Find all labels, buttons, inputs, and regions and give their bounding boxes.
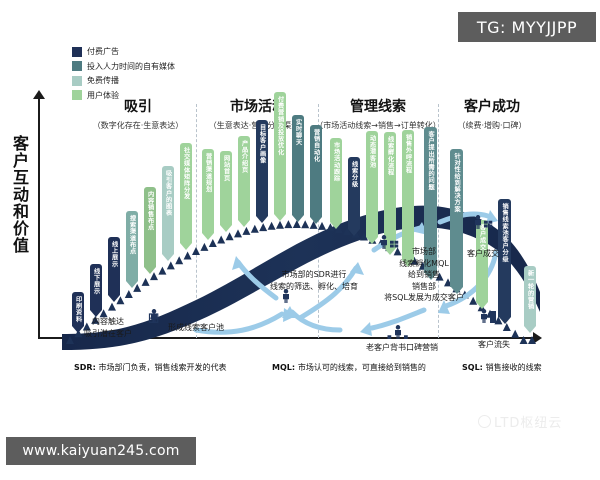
weibo-logo-icon [478,415,491,428]
y-axis-arrowhead [33,90,45,99]
activity-arrow: 产品介绍页 [238,136,250,220]
activity-arrow: 吸引客户的图表 [162,166,174,254]
activity-arrow: 目标客户画像 [256,120,268,216]
activity-arrow: 线索分级 [348,157,360,229]
legend-item: 付费广告 [72,46,175,57]
y-axis-label-char: 值 [8,238,34,255]
activity-arrow-label: 动态潜客池 [368,131,375,168]
activity-arrow: 销售外呼流程 [402,130,414,260]
annotation-line: 市场部的SDR进行 [254,269,374,281]
activity-arrow-label: 线索分级 [350,157,357,187]
annotation-line: 老客户背书口碑营销 [342,342,462,354]
arrow-tip-icon [330,222,342,229]
arrow-tip-icon [202,233,214,240]
activity-arrow: 市场活动跟踪 [330,138,342,222]
footnote: SDR: 市场部门负责，销售线索开发的代表 [74,362,227,373]
legend-item-label: 付费广告 [87,46,119,57]
legend-item: 用户体验 [72,90,175,101]
chart-legend: 付费广告投入人力时间的自有媒体免费传播用户体验 [72,46,175,104]
activity-arrow: 营销渠道规划 [202,149,214,233]
activity-arrow-label: 新一轮的营销 [526,266,533,310]
activity-arrow-label: 线上展示 [110,237,117,267]
y-axis-label: 客户互动和价值 [8,136,34,255]
footnote-key: SDR: [74,363,99,372]
note-deal-won: 客户成交 [423,248,543,260]
arrow-tip-icon [108,295,120,302]
activity-arrow: 付费营销及投放优化 [274,92,286,214]
arrow-tip-icon [348,229,360,236]
arrow-tip-icon [180,243,192,250]
person-with-door-icon [472,306,502,332]
arrow-tip-icon [274,214,286,221]
legend-swatch-icon [72,61,82,71]
note-sdr: 市场部的SDR进行线索的筛选、孵化、培育 [254,269,374,292]
annotation-line: 线索的筛选、孵化、培育 [254,281,374,293]
activity-arrow: 搜索渠道布点 [126,211,138,281]
person-with-blocks-icon [466,212,496,238]
activity-arrow-label: 付费营销及投放优化 [276,92,283,155]
arrow-tip-icon [310,217,322,224]
activity-arrow-label: 目标客户画像 [258,120,265,164]
legend-item-label: 用户体验 [87,90,119,101]
stage-divider [196,104,197,338]
legend-swatch-icon [72,76,82,86]
tg-tag-badge: TG: MYYJJPP [458,12,596,42]
legend-swatch-icon [72,90,82,100]
activity-arrow-label: 线下展示 [92,264,99,294]
activity-arrow-label: 营销自动化 [312,125,319,162]
activity-arrow: 线上展示 [108,237,120,295]
activity-arrow: 新一轮的营销 [524,266,536,326]
footnote: MQL: 市场认可的线索，可直接给到销售的 [272,362,426,373]
activity-arrow-label: 搜索渠道布点 [128,211,135,255]
footnote: SQL: 销售接收的线索 [462,362,542,373]
arrow-tip-icon [292,215,304,222]
legend-item-label: 投入人力时间的自有媒体 [87,61,175,72]
annotation-line: 给到销售 [364,269,484,281]
y-axis-line [38,98,40,338]
arrow-tip-icon [162,254,174,261]
activity-arrow-label: 内容销售布点 [146,187,153,231]
activity-arrow-label: 市场活动跟踪 [332,138,339,182]
footnote-text: 市场部门负责，销售线索开发的代表 [99,363,227,372]
activity-arrow-label: 吸引客户的图表 [164,166,171,216]
legend-item: 投入人力时间的自有媒体 [72,61,175,72]
arrow-tip-icon [144,267,156,274]
watermark-label: LTD枢纽云 [494,412,562,431]
activity-arrow-label: 销售外呼流程 [404,130,411,174]
stage-title: 客户成功 [412,96,572,116]
activity-arrow: 线索孵化流程 [384,132,396,248]
legend-item-label: 免费传播 [87,75,119,86]
site-url-badge: www.kaiyuan245.com [6,437,196,465]
weibo-watermark: LTD枢纽云 [478,412,562,431]
annotation-line: 将SQL发展为成交客户 [364,292,484,304]
annotation-line: 形成线索客户池 [136,322,256,334]
activity-arrow: 社交媒体矩阵分发 [180,143,192,243]
figure-canvas: 客户互动和价值 吸引（数字化存在·生意表达）市场活动（生意表达·营销分发渠道）管… [0,0,600,480]
activity-arrow-label: 营销渠道规划 [204,149,211,193]
legend-swatch-icon [72,47,82,57]
activity-arrow: 线下展示 [90,264,102,310]
activity-arrow-label: 产品介绍页 [240,136,247,173]
footnote-text: 市场认可的线索，可直接给到销售的 [298,363,426,372]
activity-arrow-label: 社交媒体矩阵分发 [182,143,189,200]
activity-arrow-label: 客户提出所需的问题 [427,127,434,190]
stage-header-4: 客户成功（续费·增购·口碑） [412,96,572,131]
footnote-key: MQL: [272,363,298,372]
arrow-tip-icon [256,216,268,223]
footnote-text: 销售接收的线索 [486,363,542,372]
activity-arrow-label: 线索孵化流程 [386,132,393,176]
legend-item: 免费传播 [72,75,175,86]
arrow-tip-icon [126,281,138,288]
activity-arrow: 实时聊天 [292,115,304,215]
activity-arrow: 内容销售布点 [144,187,156,267]
note-lead-pool: 形成线索客户池 [136,322,256,334]
arrow-tip-icon [524,326,536,333]
activity-arrow: 动态潜客池 [366,131,378,237]
annotation-line: 销售部 [364,281,484,293]
annotation-line: 客户成交 [423,248,543,260]
activity-arrow-label: 网站首页 [222,151,229,181]
note-advocacy: 老客户背书口碑营销 [342,342,462,354]
activity-arrow: 营销自动化 [310,125,322,217]
activity-arrow: 网站首页 [220,151,232,225]
activity-arrow-label: 针对性给到解决方案 [453,149,460,212]
arrow-tip-icon [238,220,250,227]
activity-arrow-label: 实时聊天 [294,115,301,145]
arrow-tip-icon [220,225,232,232]
footnote-key: SQL: [462,363,486,372]
